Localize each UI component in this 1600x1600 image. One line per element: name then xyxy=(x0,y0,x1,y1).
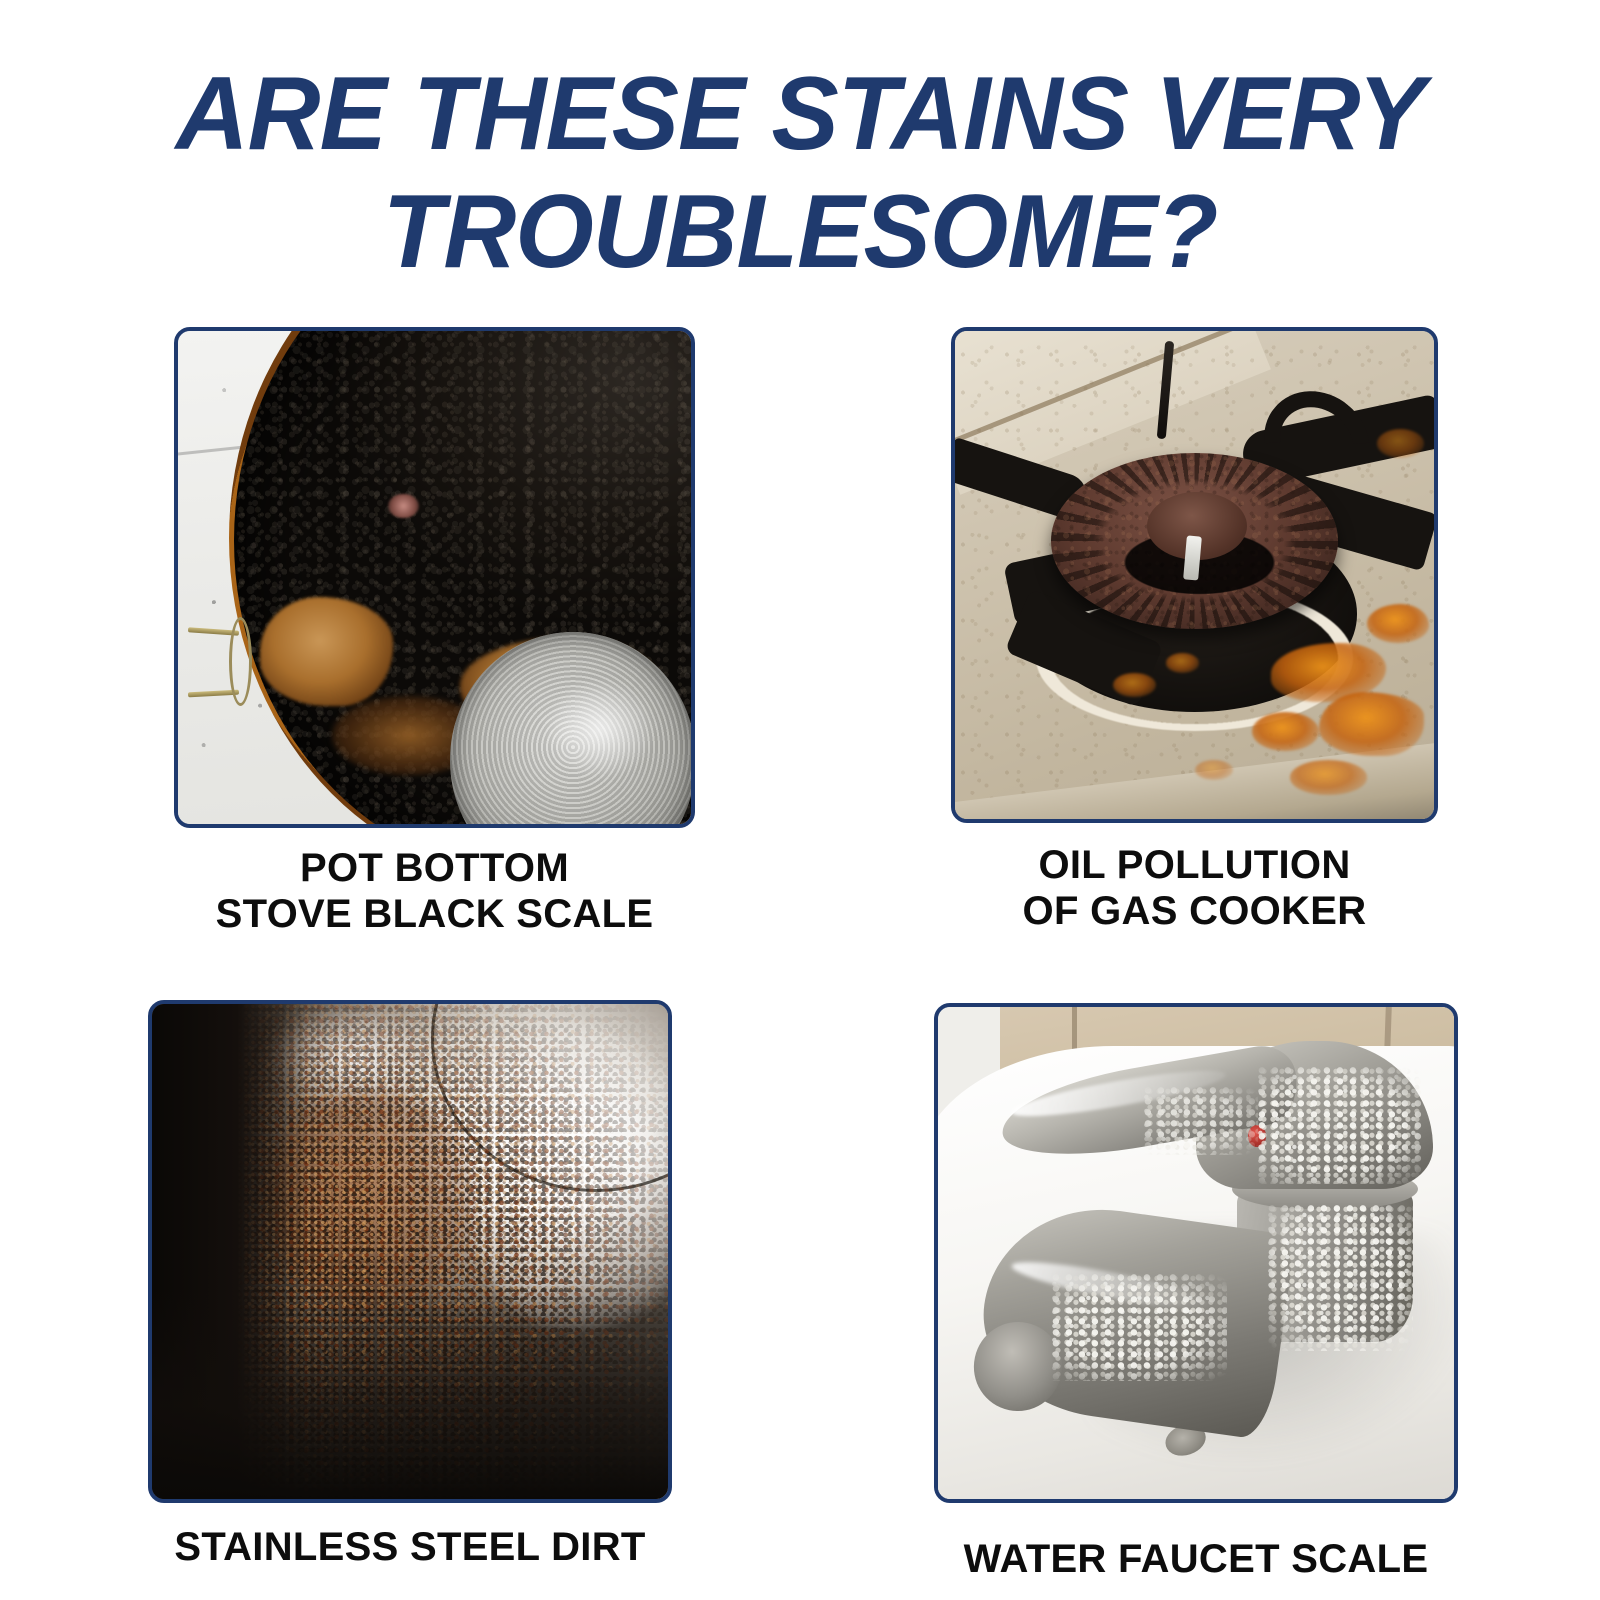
grease-splatter-5 xyxy=(1290,760,1367,794)
promo-poster: ARE THESE STAINS VERY TROUBLESOME? POT B… xyxy=(0,0,1600,1600)
caption-water-faucet: WATER FAUCET SCALE xyxy=(934,1536,1458,1582)
photo-water-faucet xyxy=(938,1007,1454,1499)
grease-splatter-4 xyxy=(1367,604,1429,643)
grease-splatter-3 xyxy=(1252,712,1319,751)
shadow-bottom xyxy=(152,1291,668,1499)
limescale-crust-spout xyxy=(1052,1273,1227,1381)
grease-splatter-7 xyxy=(1166,653,1200,673)
disc-highlight xyxy=(543,678,656,781)
burnt-residue-patch-a xyxy=(260,597,393,705)
limescale-crust-lever xyxy=(1144,1086,1258,1155)
photo-stainless-steel xyxy=(152,1004,668,1499)
photo-pot-bottom xyxy=(178,331,691,824)
limescale-crust-head xyxy=(1258,1066,1423,1184)
panel-water-faucet[interactable] xyxy=(934,1003,1458,1503)
caption-pot-bottom: POT BOTTOM STOVE BLACK SCALE xyxy=(174,845,695,937)
grease-splatter-2 xyxy=(1319,692,1424,755)
caption-stainless-steel: STAINLESS STEEL DIRT xyxy=(148,1524,672,1570)
photo-gas-cooker xyxy=(955,331,1434,819)
page-title: ARE THESE STAINS VERY TROUBLESOME? xyxy=(24,62,1576,284)
limescale-crust-base xyxy=(1268,1204,1412,1352)
panel-pot-bottom[interactable] xyxy=(174,327,695,828)
grease-splatter-9 xyxy=(1195,760,1233,780)
grease-splatter-8 xyxy=(1377,429,1425,458)
caption-gas-cooker: OIL POLLUTION OF GAS COOKER xyxy=(951,842,1438,934)
panel-stainless-steel[interactable] xyxy=(148,1000,672,1503)
panel-gas-cooker[interactable] xyxy=(951,327,1438,823)
headline-line-1: ARE THESE STAINS VERY xyxy=(24,62,1576,166)
headline-line-2: TROUBLESOME? xyxy=(24,180,1576,284)
grease-splatter-6 xyxy=(1113,673,1156,697)
